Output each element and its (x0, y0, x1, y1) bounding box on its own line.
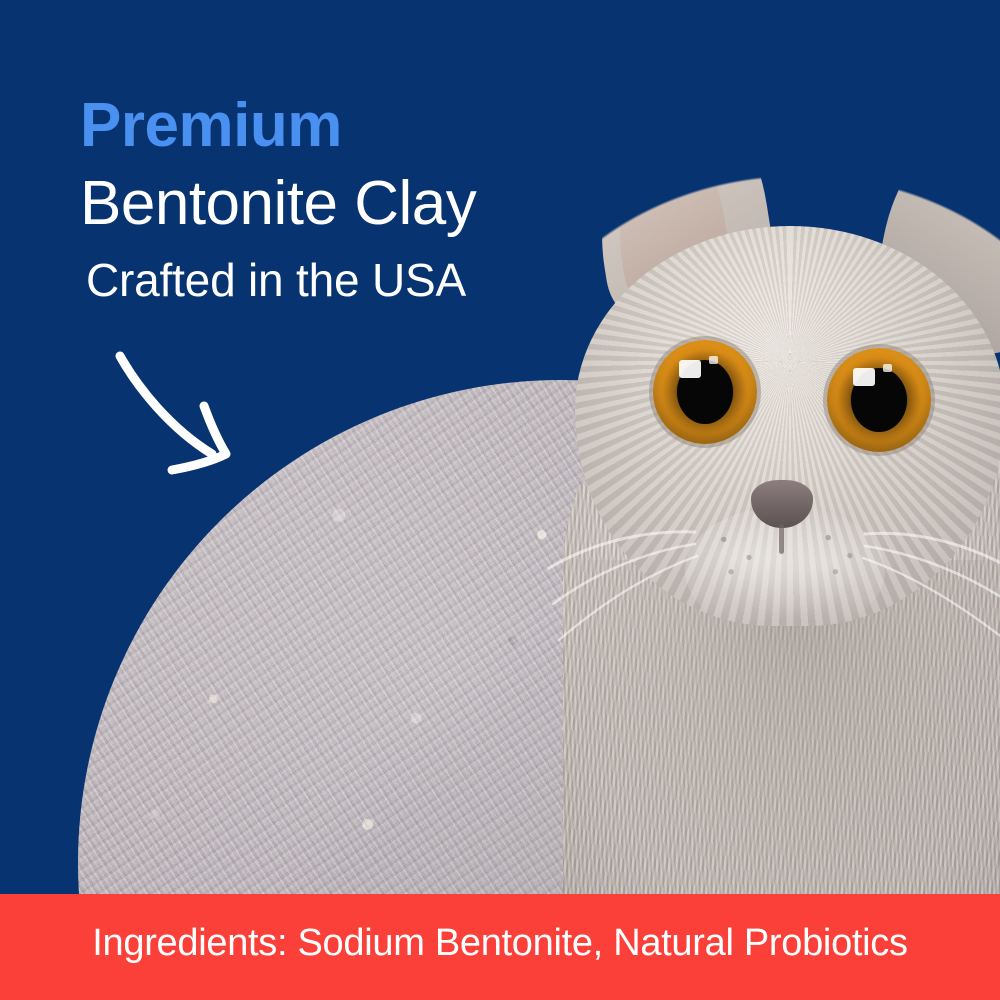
cat-left-eye-glint (679, 360, 701, 378)
headline-product-name: Bentonite Clay (80, 171, 620, 237)
curved-down-right-arrow-icon (108, 344, 278, 479)
cat-whisker-pad-dots (695, 516, 875, 606)
cat-philtrum (779, 524, 784, 554)
cat-right-eye-glint-small (883, 364, 892, 372)
cat-right-eye-glint (853, 368, 875, 386)
ingredients-banner: Ingredients: Sodium Bentonite, Natural P… (0, 894, 1000, 1000)
headline-eyebrow: Premium (80, 94, 620, 157)
product-infographic-poster: Premium Bentonite Clay Crafted in the US… (0, 0, 1000, 1000)
headline-tagline: Crafted in the USA (86, 255, 620, 306)
headline-block: Premium Bentonite Clay Crafted in the US… (80, 94, 620, 306)
cat-right-eye (827, 348, 931, 452)
ingredients-text: Ingredients: Sodium Bentonite, Natural P… (92, 922, 907, 973)
